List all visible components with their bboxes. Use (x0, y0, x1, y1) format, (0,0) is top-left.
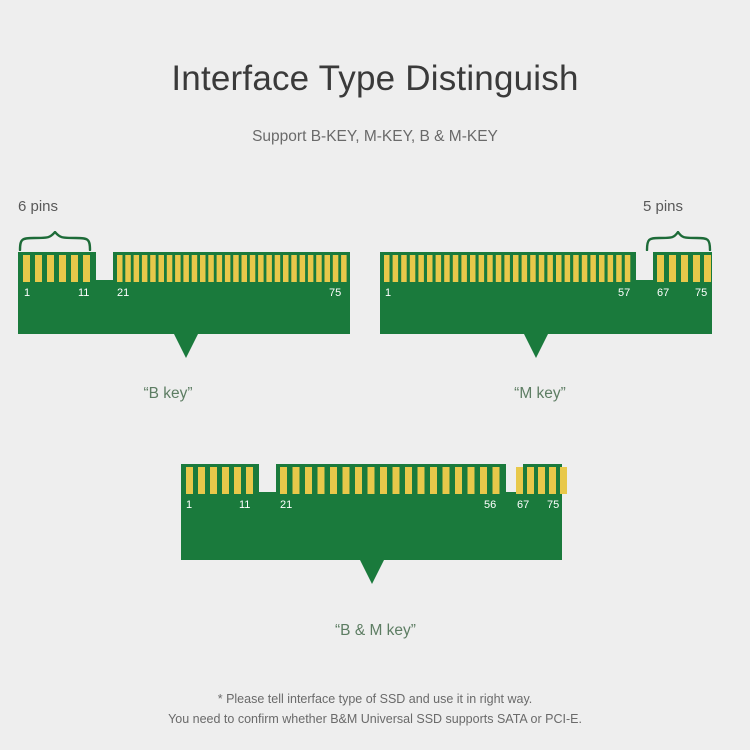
m-key-pin-number: 75 (695, 288, 707, 299)
b-and-m-key-pin-number: 75 (547, 500, 559, 511)
b-and-m-key-pin-number: 56 (484, 500, 496, 511)
b-key-pin-number: 11 (78, 288, 89, 299)
diagram-page: Interface Type Distinguish Support B-KEY… (0, 0, 750, 750)
footnote-line-1: * Please tell interface type of SSD and … (0, 689, 750, 709)
page-subtitle: Support B-KEY, M-KEY, B & M-KEY (0, 128, 750, 146)
b-key-pcb (18, 252, 350, 358)
m-key-pin-number: 57 (618, 288, 630, 299)
m-key-pins-count-label: 5 pins (643, 198, 683, 215)
b-key-pins-count-label: 6 pins (18, 198, 58, 215)
b-and-m-key-pin-number: 1 (186, 500, 192, 511)
b-key-bracket-icon (18, 231, 94, 251)
m-key-bracket-icon (645, 231, 713, 251)
footnote-line-2: You need to confirm whether B&M Universa… (0, 709, 750, 729)
m-key-pin-number: 67 (657, 288, 669, 299)
b-key-pin-number: 21 (117, 288, 129, 299)
b-and-m-key-caption: “B & M key” (303, 622, 448, 640)
m-key-left-pins (384, 255, 630, 282)
m-key-pcb (380, 252, 712, 358)
b-and-m-key-pin-number: 11 (239, 500, 250, 511)
b-key-caption: “B key” (98, 385, 238, 403)
b-and-m-key-pcb (181, 464, 562, 584)
m-key-pin-number: 1 (385, 288, 391, 299)
b-and-m-key-pin-number: 21 (280, 500, 292, 511)
m-key-caption: “M key” (470, 385, 610, 403)
b-key-pin-number: 75 (329, 288, 341, 299)
b-and-m-key-pin-number: 67 (517, 500, 529, 511)
b-key-pin-number: 1 (24, 288, 30, 299)
page-title: Interface Type Distinguish (0, 59, 750, 99)
